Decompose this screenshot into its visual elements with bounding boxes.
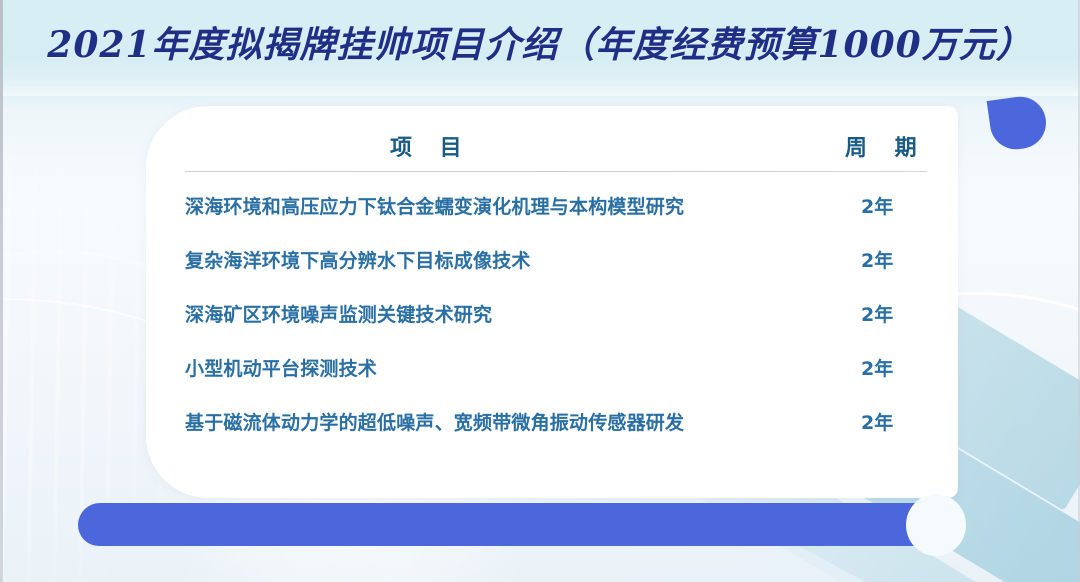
cell-project-period: 2年 (861, 408, 931, 435)
cell-project-period: 2年 (861, 192, 931, 219)
table-row: 小型机动平台探测技术 2年 (185, 348, 927, 402)
cell-project-name: 深海矿区环境噪声监测关键技术研究 (185, 300, 492, 327)
cell-project-name: 复杂海洋环境下高分辨水下目标成像技术 (185, 246, 531, 273)
table-row: 基于磁流体动力学的超低噪声、宽频带微角振动传感器研发 2年 (185, 402, 927, 456)
column-header-period: 周 期 (845, 130, 927, 162)
table-row: 深海矿区环境噪声监测关键技术研究 2年 (185, 294, 927, 348)
cell-project-period: 2年 (861, 354, 931, 381)
frame-edge-left (0, 0, 3, 582)
project-table: 项 目 周 期 深海环境和高压应力下钛合金蠕变演化机理与本构模型研究 2年 复杂… (185, 126, 927, 172)
table-row: 复杂海洋环境下高分辨水下目标成像技术 2年 (185, 240, 927, 294)
page-title: 2021年度拟揭牌挂帅项目介绍（年度经费预算1000万元） (0, 16, 1080, 68)
cell-project-period: 2年 (861, 300, 931, 327)
table-row: 深海环境和高压应力下钛合金蠕变演化机理与本构模型研究 2年 (185, 186, 927, 240)
column-header-project: 项 目 (390, 130, 472, 162)
table-header-row: 项 目 周 期 (185, 126, 927, 172)
cell-project-period: 2年 (861, 246, 931, 273)
cell-project-name: 基于磁流体动力学的超低噪声、宽频带微角振动传感器研发 (185, 408, 684, 435)
cell-project-name: 深海环境和高压应力下钛合金蠕变演化机理与本构模型研究 (185, 192, 684, 219)
table-body: 深海环境和高压应力下钛合金蠕变演化机理与本构模型研究 2年 复杂海洋环境下高分辨… (185, 186, 927, 456)
cell-project-name: 小型机动平台探测技术 (185, 354, 377, 381)
bottom-accent-bar (78, 503, 953, 546)
header-divider (185, 171, 927, 172)
slide-root: 2021年度拟揭牌挂帅项目介绍（年度经费预算1000万元） 项 目 周 期 深海… (0, 0, 1080, 582)
bottom-accent-bar-notch (906, 494, 966, 556)
